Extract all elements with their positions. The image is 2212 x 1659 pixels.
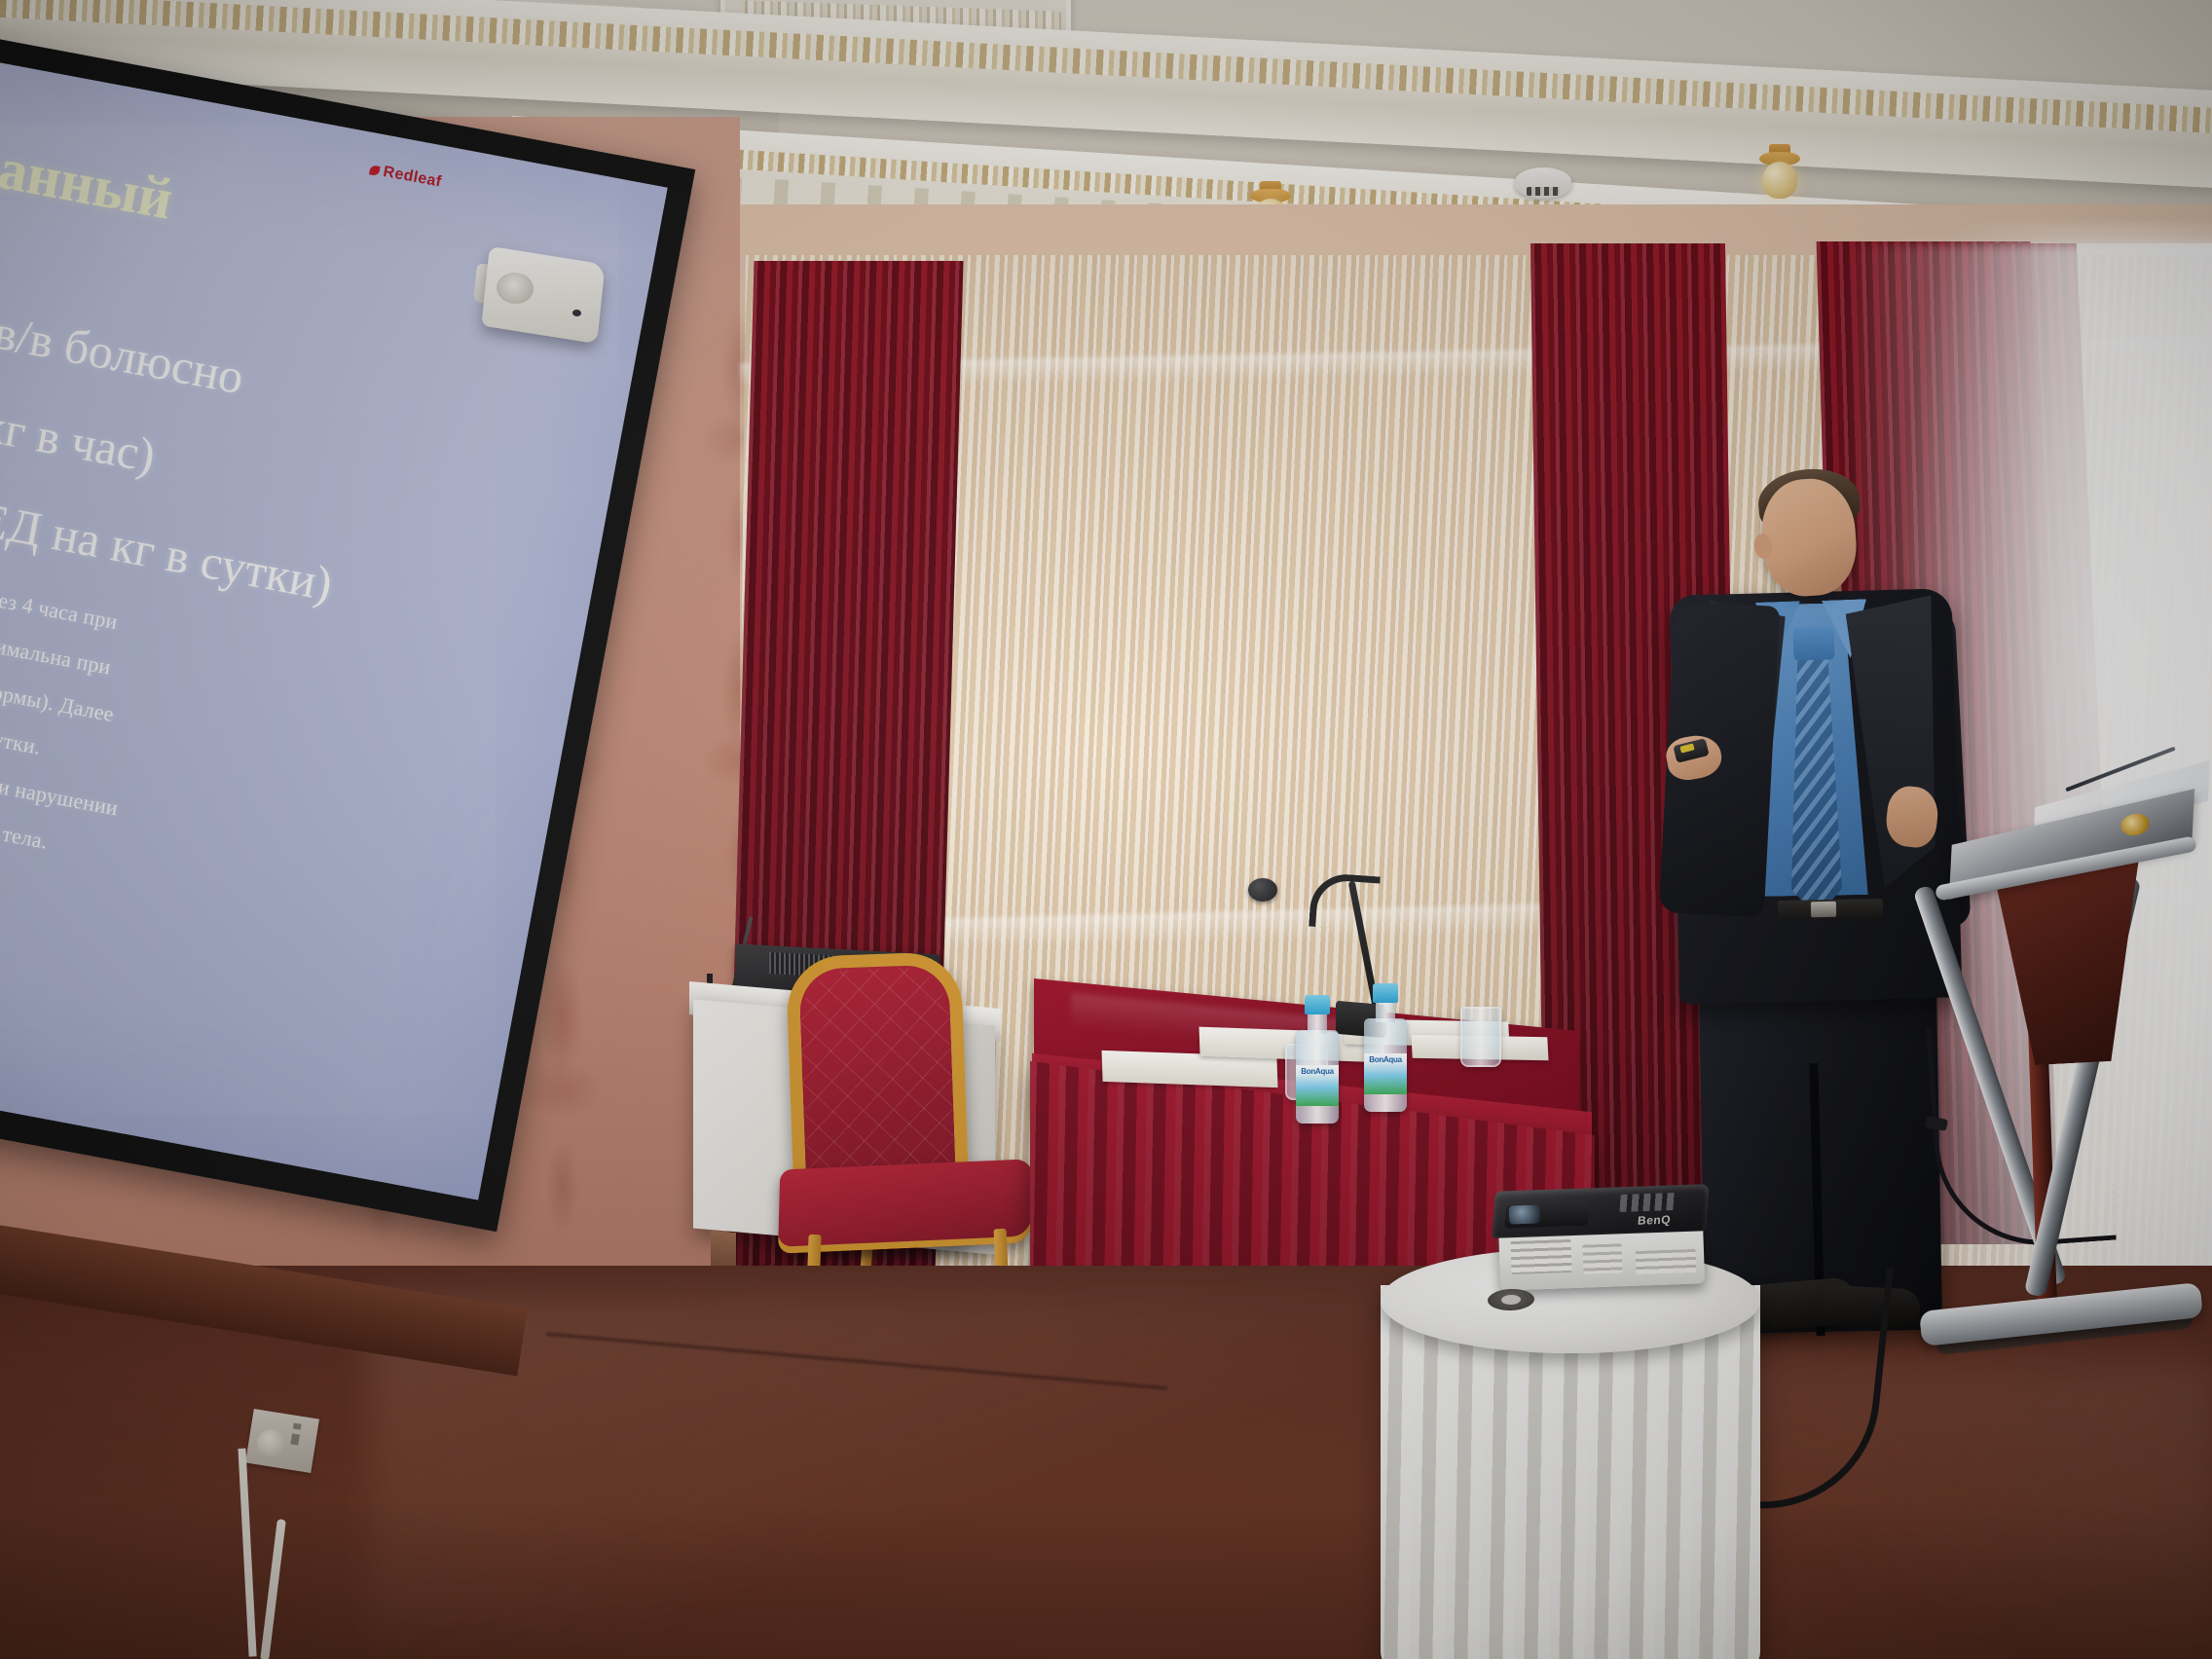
presentation-room-photo: нированный арин 5000 ЕД в/в болюсно о (1…	[0, 0, 2212, 1659]
bottle-cap	[1305, 995, 1330, 1014]
water-bottle[interactable]: BonAqua	[1295, 995, 1340, 1124]
microphone-icon[interactable]	[1248, 878, 1277, 902]
presenter-belt-buckle	[1811, 902, 1836, 917]
water-bottle[interactable]: BonAqua	[1363, 983, 1408, 1112]
lamp-globe	[1762, 162, 1797, 199]
smoke-detector-vent	[1527, 187, 1560, 196]
bottle-neck	[1308, 1013, 1327, 1034]
bottle-neck	[1376, 1001, 1395, 1022]
floor-reflection	[370, 1295, 1441, 1645]
projector-vent	[1582, 1243, 1622, 1273]
projector-lens-icon	[1509, 1204, 1541, 1224]
projector-vent	[1636, 1249, 1697, 1274]
projector-brand-text: BenQ	[1637, 1212, 1682, 1230]
projector-vent	[1510, 1239, 1571, 1274]
projector-keypad[interactable]	[1619, 1193, 1675, 1212]
red-leaf-icon	[369, 165, 381, 176]
bottle-brand-text: BonAqua	[1365, 1055, 1406, 1064]
bottle-brand-text: BonAqua	[1297, 1067, 1338, 1076]
presenter-tie-knot	[1792, 626, 1834, 660]
bottle-cap	[1373, 983, 1398, 1003]
ceiling-light-fixture	[1757, 144, 1802, 199]
drinking-glass[interactable]	[1460, 1007, 1501, 1067]
